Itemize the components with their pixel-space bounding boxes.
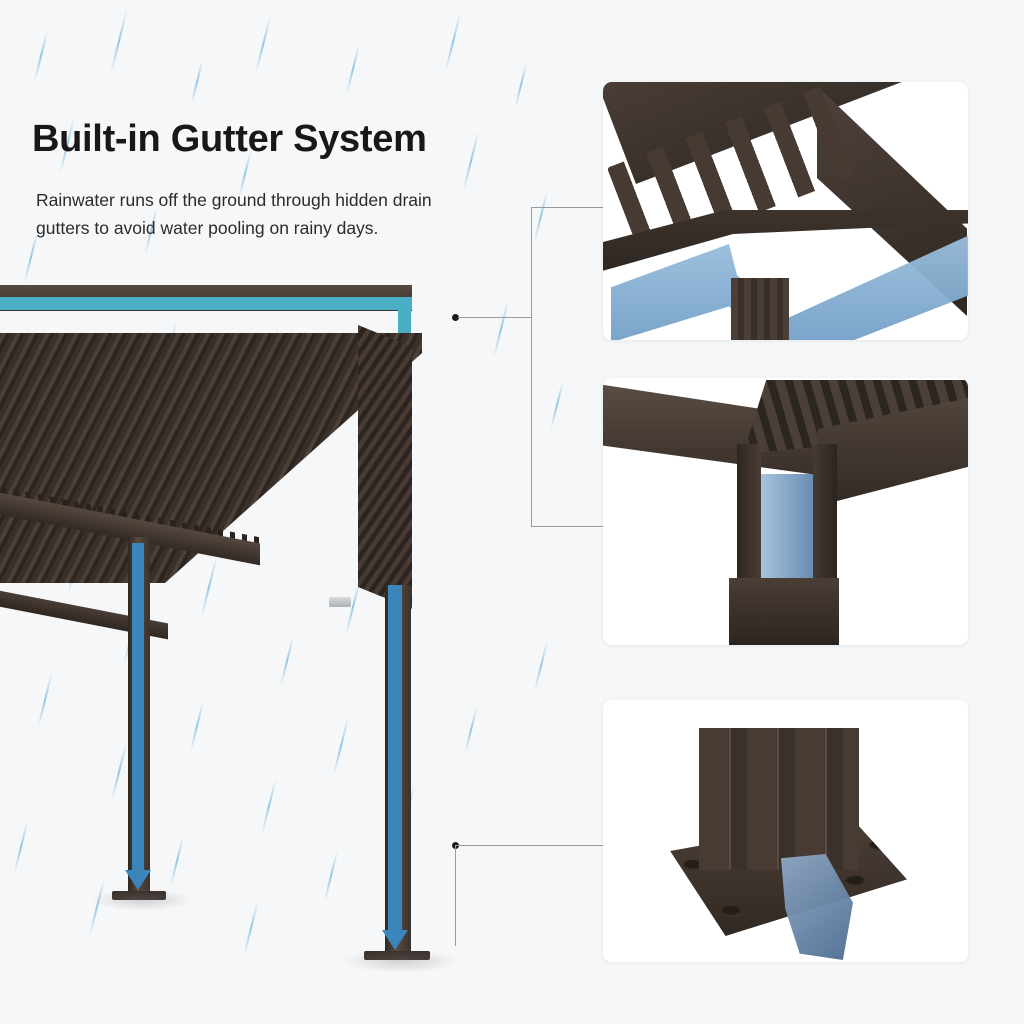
right-post-flow-arrow-shaft xyxy=(388,585,402,933)
infographic-canvas: Built-in Gutter System Rainwater runs of… xyxy=(0,0,1024,1024)
leader-branch-panel1 xyxy=(531,207,605,208)
gutter-rail-plate xyxy=(329,597,351,607)
detail-panel-base-drain[interactable] xyxy=(603,700,968,962)
right-post-flow-arrow-head xyxy=(382,930,408,950)
post-lower-section xyxy=(699,728,859,870)
leader-segment-v-base xyxy=(455,846,456,946)
leader-branch-panel2 xyxy=(531,526,605,527)
detail-panel-gutter-corner[interactable] xyxy=(603,82,968,340)
corner-post-detail xyxy=(731,278,789,340)
detail-panel-post-downspout[interactable] xyxy=(603,378,968,645)
pergola-illustration xyxy=(0,285,480,975)
bolt-hole xyxy=(721,906,741,917)
leader-segment-h-roof xyxy=(458,317,532,318)
roof-side-rafter xyxy=(358,325,412,609)
post-sleeve-detail xyxy=(729,578,839,645)
right-post-shadow xyxy=(342,949,460,973)
leader-segment-h-base xyxy=(455,845,605,846)
page-title: Built-in Gutter System xyxy=(32,118,427,161)
left-post-flow-arrow-shaft xyxy=(132,543,144,873)
gutter-path-back-edge xyxy=(0,297,412,310)
page-description: Rainwater runs off the ground through hi… xyxy=(36,186,436,243)
left-post-shadow xyxy=(90,889,194,911)
bolt-hole xyxy=(845,876,865,887)
leader-segment-v-spine xyxy=(531,207,532,527)
bolt-hole xyxy=(869,840,889,851)
left-post-flow-arrow-head xyxy=(125,870,151,890)
